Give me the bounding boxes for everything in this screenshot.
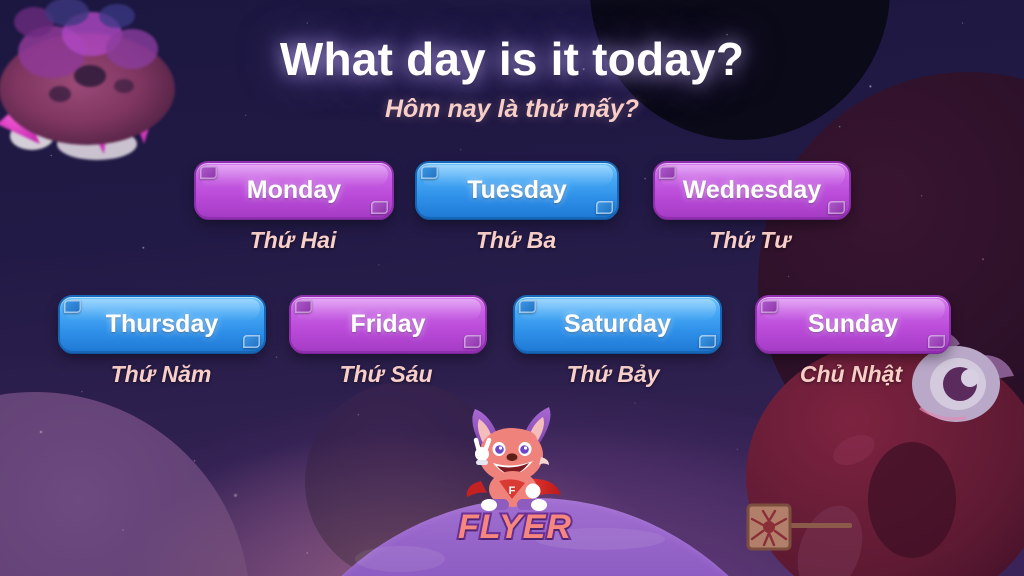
day-button-label: Tuesday: [467, 176, 567, 205]
corner-notch-top-left-icon: [421, 166, 438, 179]
corner-notch-top-left-icon: [519, 300, 536, 313]
corner-notch-bottom-right-icon: [371, 201, 388, 214]
corner-notch-bottom-right-icon: [928, 335, 945, 348]
spider-banner-sign: [742, 495, 862, 565]
day-vietnamese-label: Thứ Hai: [198, 227, 388, 254]
corner-notch-bottom-right-icon: [243, 335, 260, 348]
day-option-saturday: SaturdayThứ Bảy: [515, 297, 720, 388]
day-button-monday[interactable]: Monday: [196, 163, 392, 217]
day-button-label: Wednesday: [683, 176, 821, 205]
day-vietnamese-label: Thứ Sáu: [290, 361, 482, 388]
day-button-tuesday[interactable]: Tuesday: [417, 163, 617, 217]
day-option-wednesday: WednesdayThứ Tư: [655, 163, 849, 254]
day-option-tuesday: TuesdayThứ Ba: [417, 163, 617, 254]
day-button-wednesday[interactable]: Wednesday: [655, 163, 849, 217]
corner-notch-top-left-icon: [295, 300, 312, 313]
page-title: What day is it today?: [0, 32, 1024, 86]
day-button-thursday[interactable]: Thursday: [60, 297, 264, 351]
flyer-mascot: F: [455, 405, 575, 523]
day-option-friday: FridayThứ Sáu: [291, 297, 485, 388]
purple-planet-left-decoration: [0, 392, 250, 576]
day-vietnamese-label: Thứ Ba: [418, 227, 614, 254]
svg-text:F: F: [509, 485, 516, 497]
day-option-monday: MondayThứ Hai: [196, 163, 392, 254]
page-subtitle: Hôm nay là thứ mấy?: [0, 95, 1024, 124]
flyer-logo: FLYER: [458, 508, 570, 547]
corner-notch-bottom-right-icon: [464, 335, 481, 348]
day-button-label: Monday: [247, 176, 341, 205]
day-vietnamese-label: Thứ Tư: [654, 227, 846, 254]
corner-notch-top-left-icon: [659, 166, 676, 179]
spiky-asteroid-icon: [0, 0, 202, 174]
day-button-label: Sunday: [808, 310, 898, 339]
corner-notch-bottom-right-icon: [596, 201, 613, 214]
day-vietnamese-label: Chủ Nhật: [756, 361, 946, 388]
day-option-thursday: ThursdayThứ Năm: [60, 297, 264, 388]
day-button-label: Saturday: [564, 310, 671, 339]
slide-canvas: F FLYER What day is it today? Hôm nay là…: [0, 0, 1024, 576]
corner-notch-top-left-icon: [64, 300, 81, 313]
day-button-label: Friday: [350, 310, 425, 339]
day-vietnamese-label: Thứ Bảy: [512, 361, 714, 388]
day-button-friday[interactable]: Friday: [291, 297, 485, 351]
corner-notch-top-left-icon: [761, 300, 778, 313]
day-button-saturday[interactable]: Saturday: [515, 297, 720, 351]
day-button-label: Thursday: [106, 310, 219, 339]
day-button-sunday[interactable]: Sunday: [757, 297, 949, 351]
corner-notch-bottom-right-icon: [828, 201, 845, 214]
corner-notch-top-left-icon: [200, 166, 217, 179]
corner-notch-bottom-right-icon: [699, 335, 716, 348]
day-vietnamese-label: Thứ Năm: [60, 361, 262, 388]
day-option-sunday: SundayChủ Nhật: [757, 297, 949, 388]
